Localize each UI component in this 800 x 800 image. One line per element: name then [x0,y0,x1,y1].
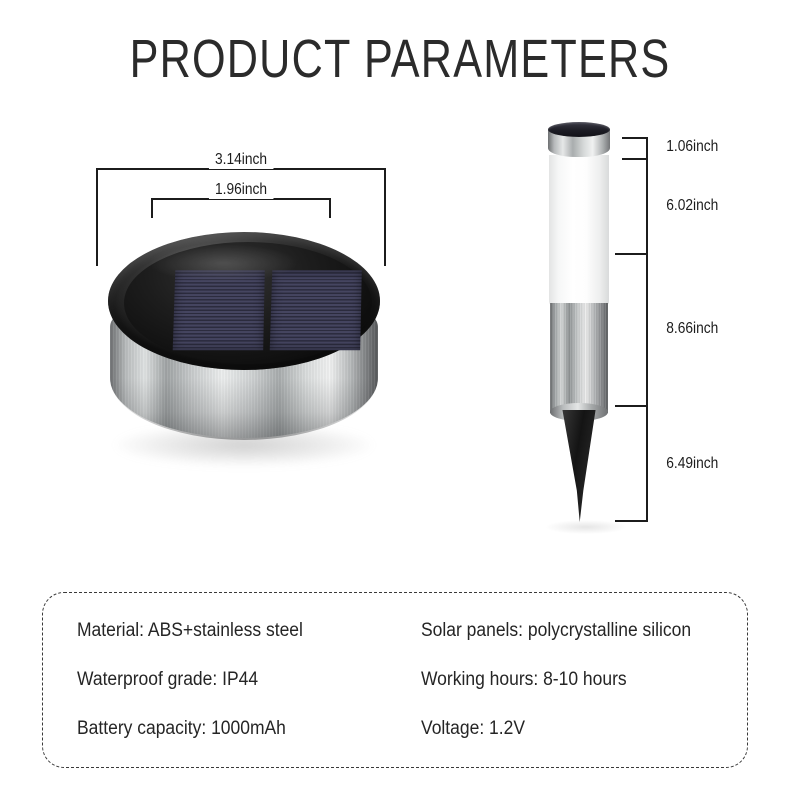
stake-solar-cap [548,122,610,137]
spec-waterproof-grade: Waterproof grade: IP44 [77,669,303,691]
dim-label-outer-diameter: 3.14inch [209,151,273,169]
stake-steel-shaft [550,303,608,413]
product-parameters-infographic: PRODUCT PARAMETERS 3.14inch 1.96inch [0,0,800,800]
dim-tick-3 [615,253,648,255]
stake-white-diffuser [549,155,609,307]
spec-material: Material: ABS+stainless steel [77,620,303,642]
spec-battery-capacity: Battery capacity: 1000mAh [77,718,303,740]
page-title: PRODUCT PARAMETERS [80,28,720,90]
disc-black-bezel [108,232,380,370]
dim-ext-outer-right [384,168,386,266]
dim-ext-outer-left [96,168,98,266]
stake-ground-spike [561,410,597,522]
dim-tick-1 [622,137,648,139]
dim-ext-inner-right [329,198,331,218]
specifications-box: Material: ABS+stainless steel Waterproof… [42,592,748,768]
dim-label-cap-height: 1.06inch [660,138,724,156]
dim-ext-inner-left [151,198,153,218]
spec-column-left: Material: ABS+stainless steel Waterproof… [77,593,323,767]
solar-light-head-image [104,228,384,478]
solar-cell-left [173,270,265,350]
dim-label-solar-panel-width: 1.96inch [209,181,273,199]
dim-label-spike-height: 6.49inch [660,455,724,473]
solar-cell-right [270,270,362,350]
stake-drop-shadow [546,520,626,534]
dim-label-shaft-height: 8.66inch [660,320,724,338]
spec-voltage: Voltage: 1.2V [421,718,691,740]
dim-tick-2 [622,158,648,160]
dim-label-diffuser-height: 6.02inch [660,197,724,215]
spec-working-hours: Working hours: 8-10 hours [421,669,691,691]
solar-stake-light-image [540,122,632,532]
dim-tick-5 [615,520,648,522]
dim-chain-vertical [646,137,648,520]
disc-black-glass [124,242,372,364]
spec-solar-panels: Solar panels: polycrystalline silicon [421,620,691,642]
spec-column-right: Solar panels: polycrystalline silicon Wo… [421,593,715,767]
dim-tick-4 [615,405,648,407]
